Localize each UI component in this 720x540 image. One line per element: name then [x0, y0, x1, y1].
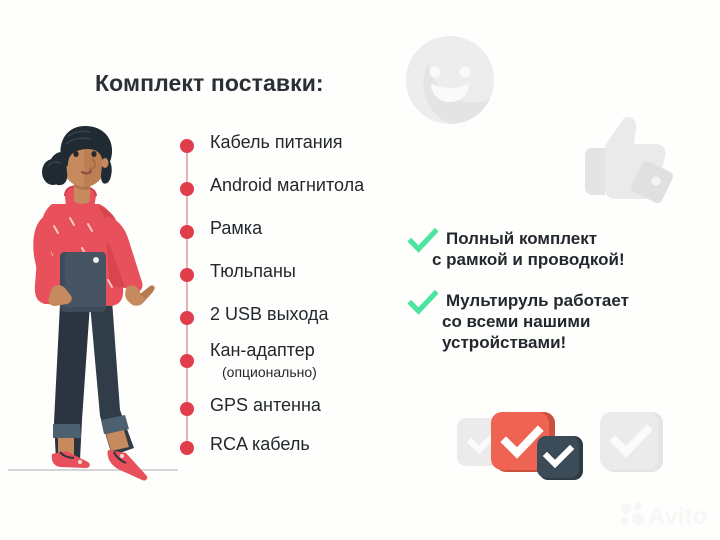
benefit-label: Мультируль работает [446, 290, 629, 311]
checkbox-cluster [455, 408, 670, 498]
bullet-dot-icon [180, 402, 194, 416]
list-item-label: 2 USB выхода [210, 304, 328, 325]
list-item-label: RCA кабель [210, 434, 310, 455]
bullet-dot-icon [180, 139, 194, 153]
bullet-dot-icon [180, 441, 194, 455]
page-title: Комплект поставки: [95, 70, 324, 97]
benefit-label: с рамкой и проводкой! [432, 249, 625, 270]
bullet-dot-icon [180, 225, 194, 239]
bullet-dot-icon [180, 354, 194, 368]
promo-image-canvas: Комплект поставки: Кабель питания Androi… [0, 0, 720, 540]
list-item-label: Кабель питания [210, 132, 343, 153]
avito-watermark: Avito [618, 500, 714, 530]
thumbs-up-icon [578, 108, 682, 212]
list-item-label: Кан-адаптер [210, 340, 315, 361]
green-check-icon [408, 288, 438, 318]
list-item-label: Рамка [210, 218, 262, 239]
list-item-sublabel: (опционально) [222, 364, 317, 380]
woman-illustration [8, 108, 178, 508]
checkbox-dark [537, 436, 583, 480]
benefit-label: со всеми нашими [442, 311, 590, 332]
bullet-dot-icon [180, 268, 194, 282]
list-item-label: Тюльпаны [210, 261, 296, 282]
smiley-face-icon [404, 34, 496, 126]
list-item-label: Android магнитола [210, 175, 364, 196]
benefit-label: Полный комплект [446, 228, 597, 249]
benefit-label: устройствами! [442, 332, 566, 353]
bullet-dot-icon [180, 311, 194, 325]
list-item-label: GPS антенна [210, 395, 321, 416]
checkbox-gray-right [600, 412, 663, 472]
svg-text:Avito: Avito [648, 503, 707, 530]
bullet-dot-icon [180, 182, 194, 196]
